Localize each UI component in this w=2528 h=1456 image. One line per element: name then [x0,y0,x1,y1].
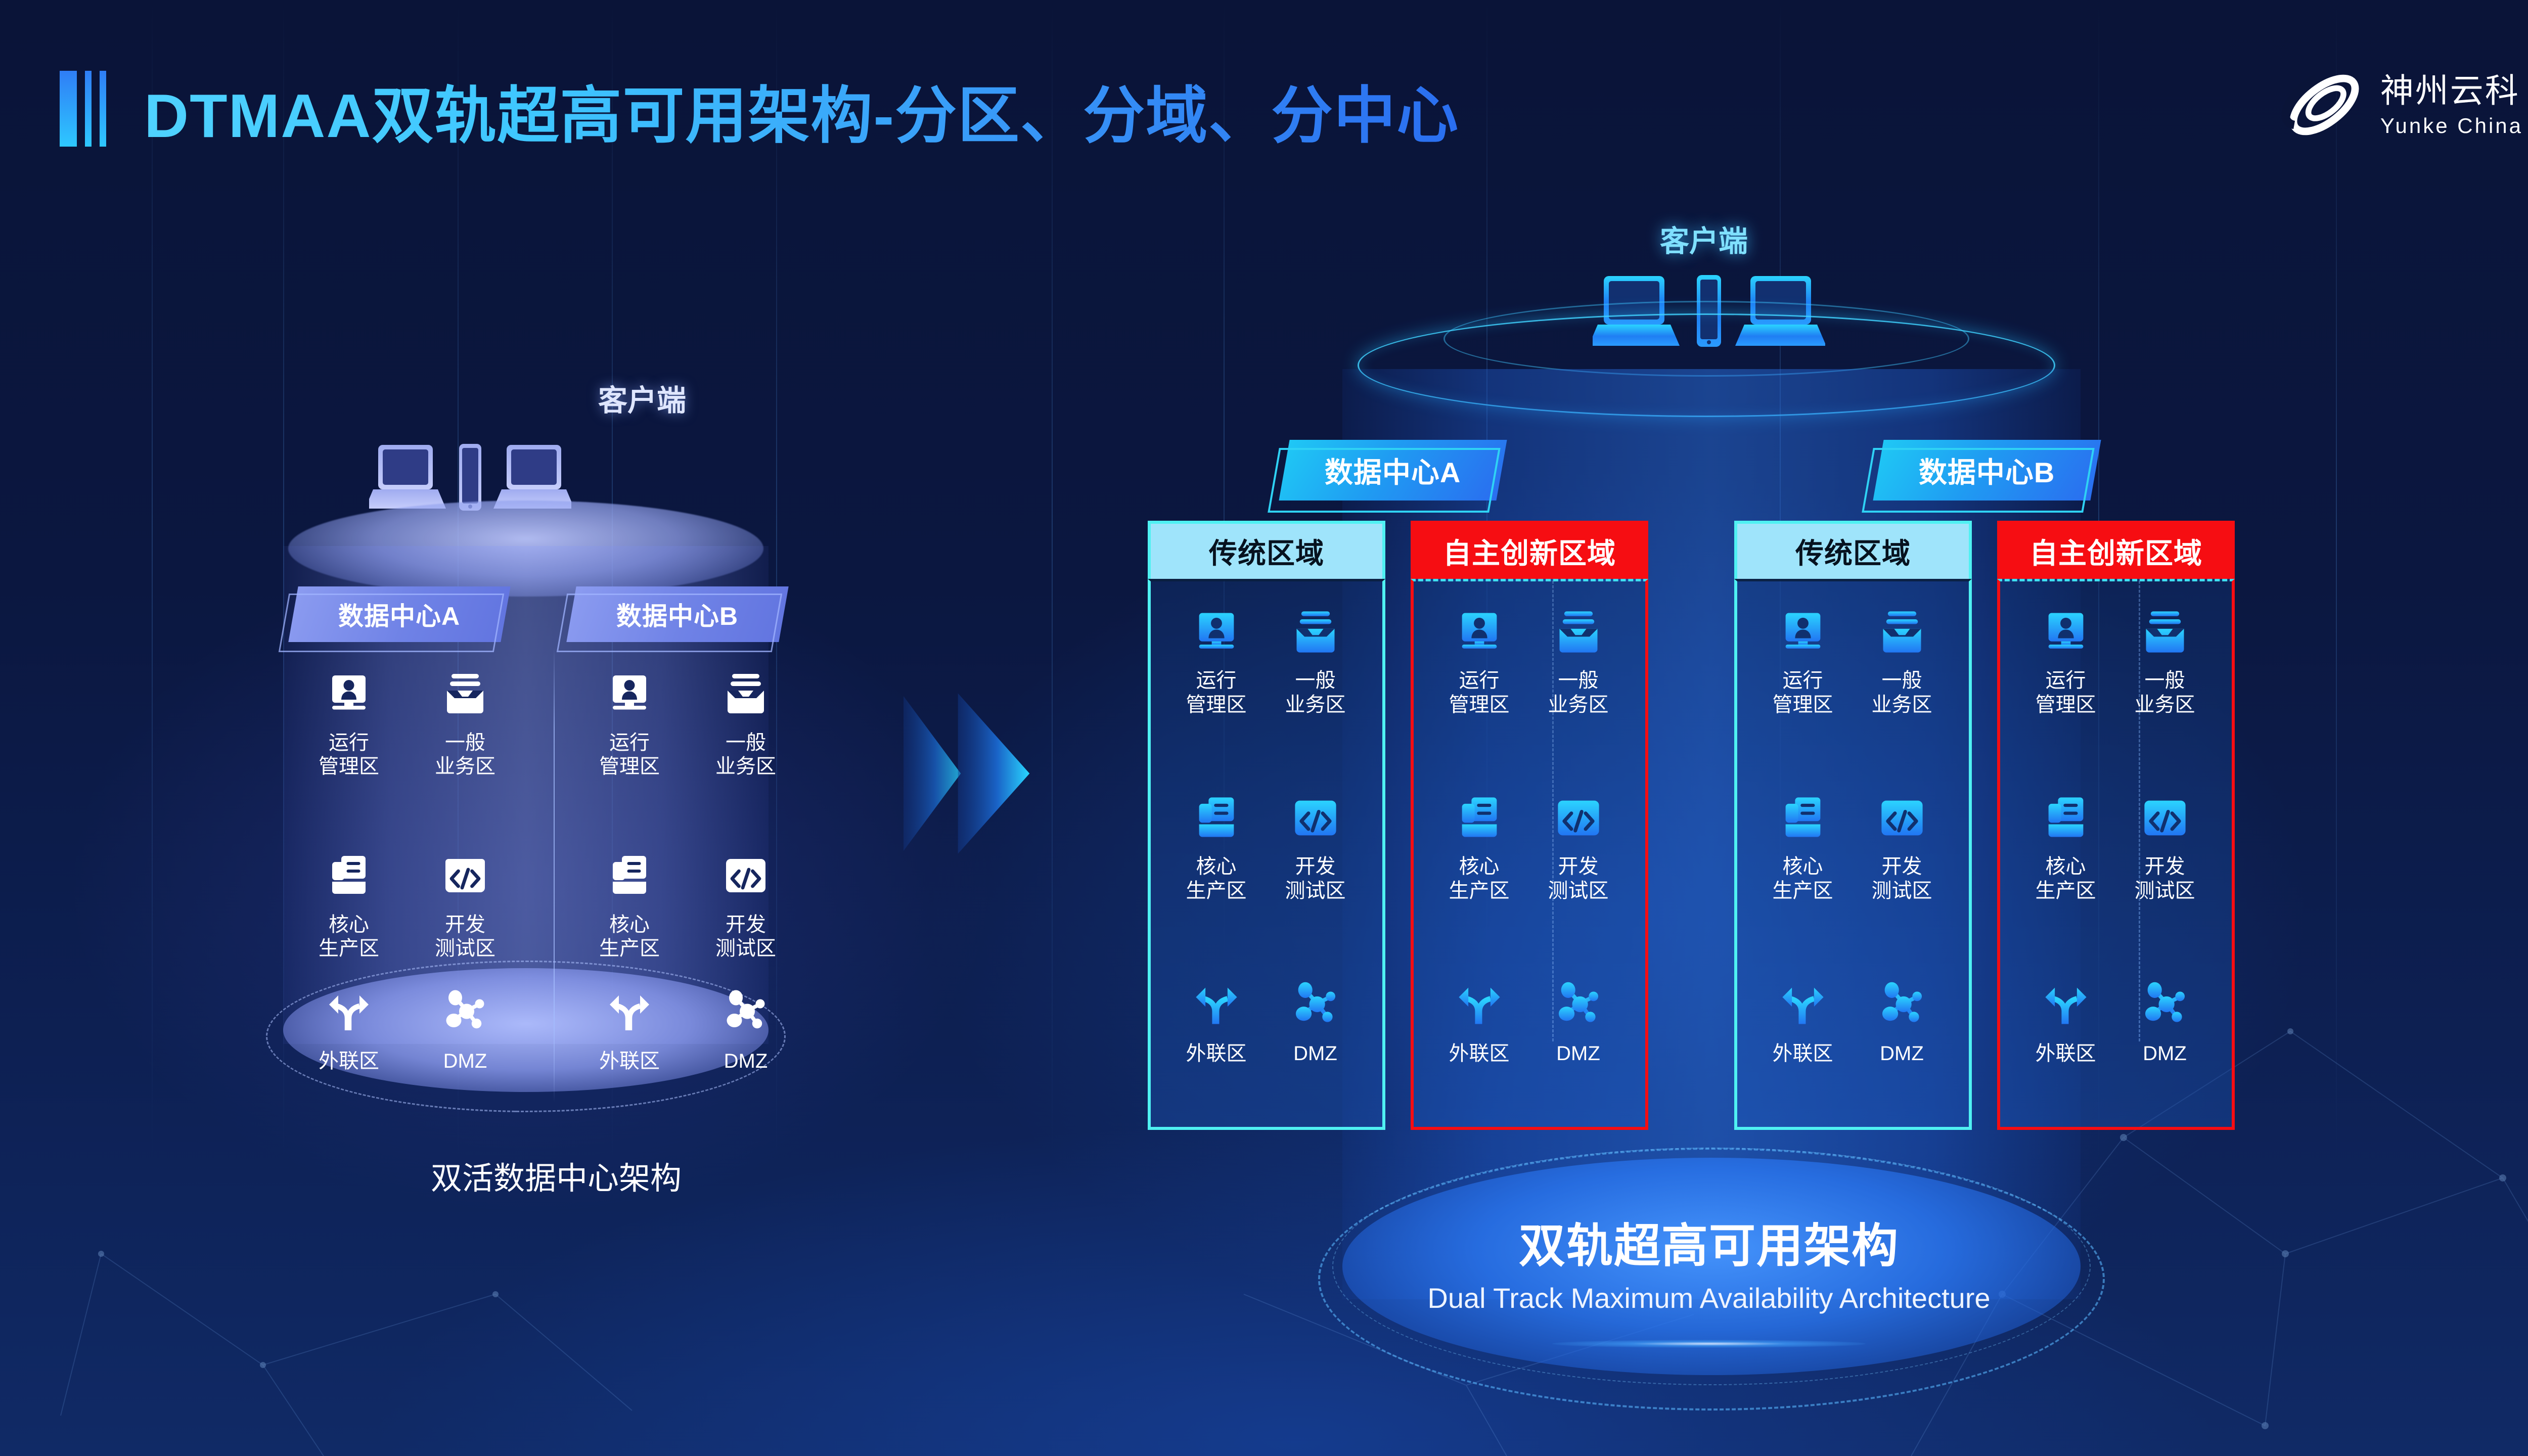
left-dc-a-banner[interactable]: 数据中心A [288,586,510,642]
dcb-inno-zone-external[interactable]: 外联区 [2011,971,2120,1066]
left-dc-a-label: 数据中心A [338,596,460,632]
left-a-zone-dev[interactable]: 开发 测试区 [407,839,523,961]
left-a-zone-ops[interactable]: 运行 管理区 [291,657,407,779]
server-rack-icon [571,839,688,900]
dcb-inno-zone-general[interactable]: 一般 业务区 [2110,598,2219,717]
zone-label: 核心 生产区 [2011,854,2120,903]
dcb-inno-zone-dev[interactable]: 开发 测试区 [2110,784,2219,903]
zone-label: 外联区 [1162,1041,1271,1066]
dc-b-traditional-panel[interactable]: 传统区域 运行 管理区 一般 业务区 核心 生产区 [1734,521,1972,1130]
user-monitor-icon [1748,598,1857,657]
right-caption-en: Dual Track Maximum Availability Architec… [1427,1282,1990,1314]
right-caption-cn: 双轨超高可用架构 [1519,1208,1899,1276]
dca-trad-zone-ops[interactable]: 运行 管理区 [1162,598,1271,717]
yunke-swirl-logo-icon [2281,63,2367,147]
zone-label: 一般 业务区 [688,731,804,779]
left-b-zone-external[interactable]: 外联区 [571,976,688,1073]
right-client-label: 客户端 [1660,217,1748,260]
zone-label: DMZ [688,1050,804,1073]
zone-label: 一般 业务区 [1261,668,1370,717]
left-a-zone-general[interactable]: 一般 业务区 [407,657,523,779]
zone-label: 运行 管理区 [1162,668,1271,717]
right-dc-a-banner[interactable]: 数据中心A [1279,440,1507,500]
network-nodes-icon [1524,971,1633,1030]
dca-inno-zone-external[interactable]: 外联区 [1425,971,1533,1066]
dcb-inno-zone-dmz[interactable]: DMZ [2110,971,2219,1066]
zone-label: 核心 生产区 [571,913,688,961]
zone-label: 核心 生产区 [1162,854,1271,903]
zone-label: 外联区 [1748,1041,1857,1066]
dca-inno-zone-general[interactable]: 一般 业务区 [1524,598,1633,717]
dca-inno-zone-ops[interactable]: 运行 管理区 [1425,598,1533,717]
zone-label: 运行 管理区 [571,731,688,779]
branching-arrows-icon [571,976,688,1036]
server-rack-icon [1425,784,1533,843]
left-a-zone-core[interactable]: 核心 生产区 [291,839,407,961]
network-nodes-icon [1847,971,1956,1030]
dca-inno-zone-dev[interactable]: 开发 测试区 [1524,784,1633,903]
zone-label: 核心 生产区 [1425,854,1533,903]
dcb-trad-zone-dmz[interactable]: DMZ [1847,971,1956,1066]
zone-label: 一般 业务区 [407,731,523,779]
left-a-zone-external[interactable]: 外联区 [291,976,407,1073]
branching-arrows-icon [1425,971,1533,1030]
user-monitor-icon [1425,598,1533,657]
zone-label: 运行 管理区 [1748,668,1857,717]
left-client-label: 客户端 [598,377,686,419]
zone-label: 外联区 [571,1050,688,1073]
dcb-trad-zone-core[interactable]: 核心 生产区 [1748,784,1857,903]
zone-label: 开发 测试区 [2110,854,2219,903]
server-rack-icon [2011,784,2120,843]
left-b-zone-core[interactable]: 核心 生产区 [571,839,688,961]
dc-b-innovation-panel[interactable]: 自主创新区域 运行 管理区 一般 业务区 核心 生产区 [1997,521,2235,1130]
panel-header: 传统区域 [1734,521,1972,579]
zone-label: 运行 管理区 [2011,668,2120,717]
inbox-icon [407,657,523,718]
logo-name-cn: 神州云科 [2380,74,2523,107]
network-nodes-icon [688,976,804,1036]
inbox-icon [1847,598,1956,657]
network-nodes-icon [1261,971,1370,1030]
user-monitor-icon [1162,598,1271,657]
right-dc-b-banner[interactable]: 数据中心B [1873,440,2101,500]
code-window-icon [1524,784,1633,843]
laptop-icon [369,445,446,509]
zone-label: 一般 业务区 [1524,668,1633,717]
inbox-icon [1524,598,1633,657]
zone-label: DMZ [1261,1041,1370,1066]
zone-label: DMZ [1847,1041,1956,1066]
left-dc-b-label: 数据中心B [616,596,738,632]
left-dc-b-banner[interactable]: 数据中心B [566,586,788,642]
dcb-trad-zone-ops[interactable]: 运行 管理区 [1748,598,1857,717]
zone-label: 开发 测试区 [1524,854,1633,903]
dcb-inno-zone-ops[interactable]: 运行 管理区 [2011,598,2120,717]
left-b-zone-dev[interactable]: 开发 测试区 [688,839,804,961]
branching-arrows-icon [1162,971,1271,1030]
laptop-icon [493,445,571,509]
left-b-zone-ops[interactable]: 运行 管理区 [571,657,688,779]
left-dc-divider [554,647,555,1102]
title-accent-bars [60,71,106,147]
dcb-inno-zone-core[interactable]: 核心 生产区 [2011,784,2120,903]
user-monitor-icon [291,657,407,718]
code-window-icon [407,839,523,900]
right-dc-a-label: 数据中心A [1325,450,1461,491]
server-rack-icon [291,839,407,900]
panel-header: 自主创新区域 [1411,521,1648,579]
zone-label: DMZ [1524,1041,1633,1066]
branching-arrows-icon [291,976,407,1036]
dca-trad-zone-general[interactable]: 一般 业务区 [1261,598,1370,717]
dca-trad-zone-dmz[interactable]: DMZ [1261,971,1370,1066]
branching-arrows-icon [1748,971,1857,1030]
panel-header: 传统区域 [1148,521,1385,579]
code-window-icon [1261,784,1370,843]
panel-header: 自主创新区域 [1997,521,2235,579]
left-b-zone-dmz[interactable]: DMZ [688,976,804,1073]
dcb-trad-zone-dev[interactable]: 开发 测试区 [1847,784,1956,903]
network-nodes-icon [407,976,523,1036]
dca-inno-zone-dmz[interactable]: DMZ [1524,971,1633,1066]
page-header: DTMAA双轨超高可用架构-分区、分域、分中心 神州云科 Yunke China [0,0,2528,167]
code-window-icon [1847,784,1956,843]
code-window-icon [2110,784,2219,843]
dc-a-traditional-panel[interactable]: 传统区域 运行 管理区 一般 业务区 核心 生产区 [1148,521,1385,1130]
logo-name-en: Yunke China [2380,115,2523,136]
zone-label: DMZ [407,1050,523,1073]
branching-arrows-icon [2011,971,2120,1030]
user-monitor-icon [2011,598,2120,657]
dcb-trad-zone-external[interactable]: 外联区 [1748,971,1857,1066]
dca-trad-zone-dev[interactable]: 开发 测试区 [1261,784,1370,903]
zone-label: 外联区 [291,1050,407,1073]
zone-label: 运行 管理区 [291,731,407,779]
zone-label: 外联区 [2011,1041,2120,1066]
dca-inno-zone-core[interactable]: 核心 生产区 [1425,784,1533,903]
zone-label: 运行 管理区 [1425,668,1533,717]
zone-label: 核心 生产区 [291,913,407,961]
dcb-trad-zone-general[interactable]: 一般 业务区 [1847,598,1956,717]
zone-label: DMZ [2110,1041,2219,1066]
zone-label: 开发 测试区 [688,913,804,961]
zone-label: 开发 测试区 [1847,854,1956,903]
left-b-zone-general[interactable]: 一般 业务区 [688,657,804,779]
network-nodes-icon [2110,971,2219,1030]
left-caption: 双活数据中心架构 [431,1153,682,1198]
zone-label: 外联区 [1425,1041,1533,1066]
zone-label: 一般 业务区 [1847,668,1956,717]
left-a-zone-dmz[interactable]: DMZ [407,976,523,1073]
zone-label: 开发 测试区 [1261,854,1370,903]
inbox-icon [688,657,804,718]
zone-label: 开发 测试区 [407,913,523,961]
left-architecture-diagram: 客户端 数据中心A 数据中心B [217,334,895,1223]
inbox-icon [1261,598,1370,657]
zone-label: 核心 生产区 [1748,854,1857,903]
right-architecture-diagram: 客户端 数据中心A 数据中心B [986,187,2452,1441]
server-rack-icon [1162,784,1271,843]
dc-a-innovation-panel[interactable]: 自主创新区域 运行 管理区 一般 业务区 核心 生产区 [1411,521,1648,1130]
code-window-icon [688,839,804,900]
page-title: DTMAA双轨超高可用架构-分区、分域、分中心 [144,66,1459,155]
dca-trad-zone-core[interactable]: 核心 生产区 [1162,784,1271,903]
dca-trad-zone-external[interactable]: 外联区 [1162,971,1271,1066]
brand-logo: 神州云科 Yunke China [2281,63,2523,147]
user-monitor-icon [571,657,688,718]
inbox-icon [2110,598,2219,657]
zone-label: 一般 业务区 [2110,668,2219,717]
caption-glow [1552,1340,1866,1348]
mobile-phone-icon [459,444,481,511]
server-rack-icon [1748,784,1857,843]
right-dc-b-label: 数据中心B [1919,450,2055,491]
